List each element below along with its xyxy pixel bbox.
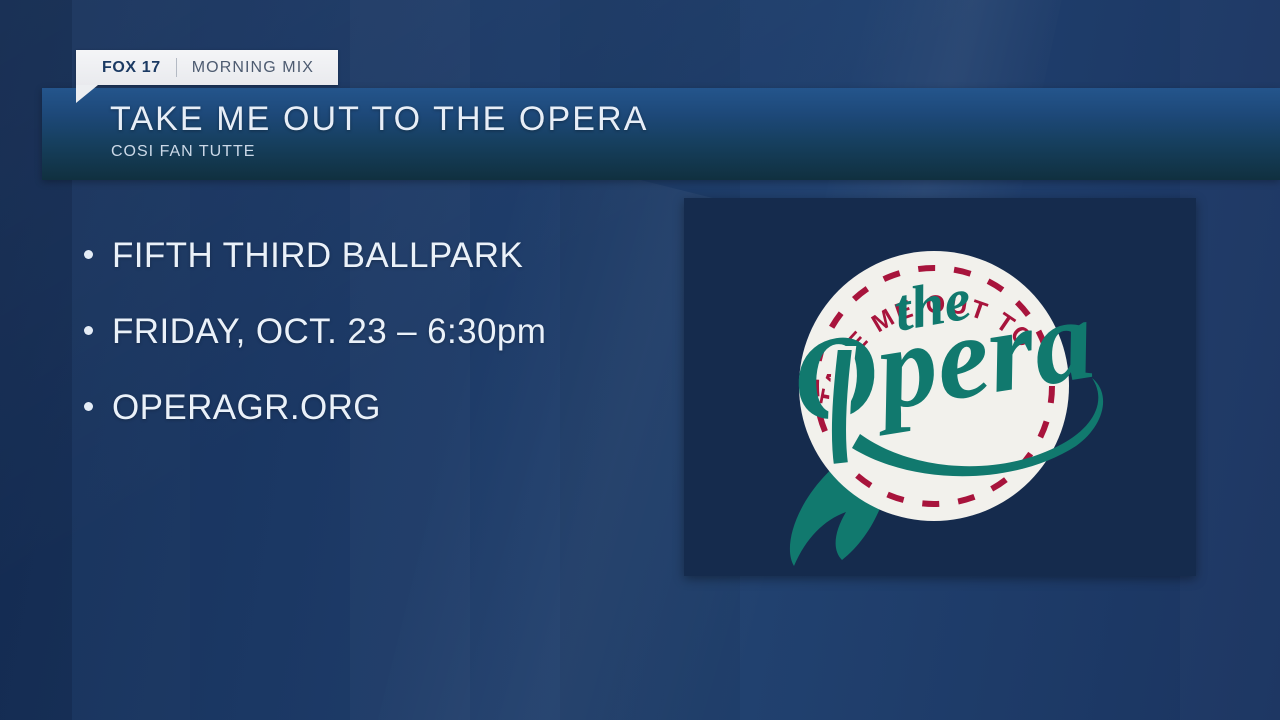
title-banner: TAKE ME OUT TO THE OPERA COSI FAN TUTTE (42, 88, 1280, 180)
detail-list: FIFTH THIRD BALLPARK FRIDAY, OCT. 23 – 6… (84, 236, 644, 464)
bullet-dot-icon (84, 250, 93, 259)
network-label: FOX 17 (102, 59, 161, 77)
logo-panel: Take Me Out To The Opera baseball badge … (684, 198, 1196, 576)
list-item-label: FRIDAY, OCT. 23 – 6:30pm (112, 312, 546, 352)
show-label: MORNING MIX (192, 59, 314, 77)
broadcast-graphic: FOX 17 MORNING MIX TAKE ME OUT TO THE OP… (0, 0, 1280, 720)
opera-badge-logo: Take Me Out To The Opera baseball badge … (684, 198, 1196, 576)
list-item: FIFTH THIRD BALLPARK (84, 236, 644, 312)
list-item: FRIDAY, OCT. 23 – 6:30pm (84, 312, 644, 388)
list-item-label: OPERAGR.ORG (112, 388, 381, 428)
bullet-dot-icon (84, 402, 93, 411)
opera-descender-stroke (830, 348, 854, 466)
brand-tag-tail (76, 85, 98, 103)
list-item: OPERAGR.ORG (84, 388, 644, 464)
brand-divider (176, 58, 177, 77)
bullet-dot-icon (84, 326, 93, 335)
page-subtitle: COSI FAN TUTTE (111, 143, 255, 161)
list-item-label: FIFTH THIRD BALLPARK (112, 236, 523, 276)
brand-tag: FOX 17 MORNING MIX (76, 50, 338, 85)
page-title: TAKE ME OUT TO THE OPERA (110, 100, 648, 139)
